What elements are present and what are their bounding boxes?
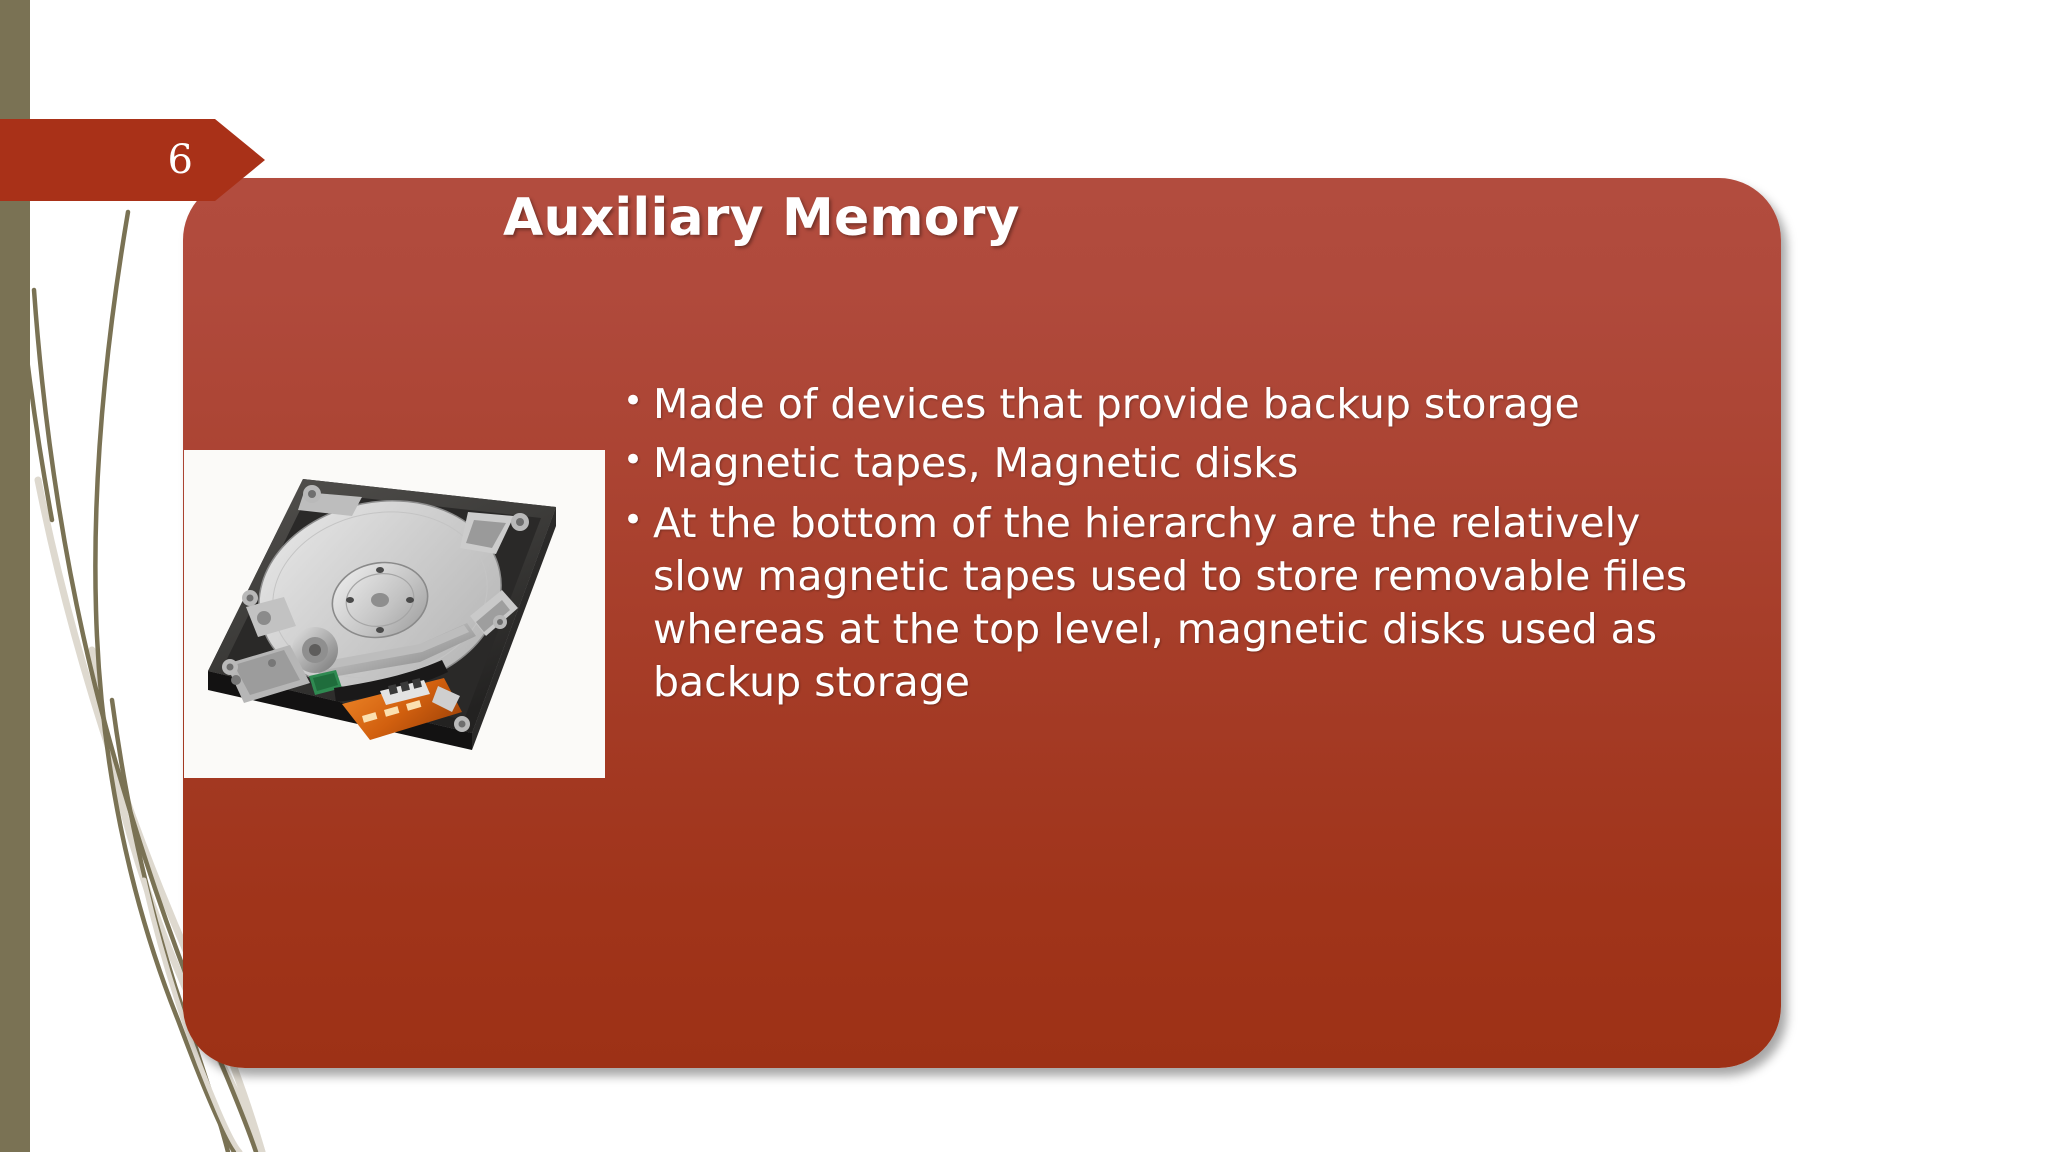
- bullet-text: At the bottom of the hierarchy are the r…: [653, 497, 1743, 710]
- bullet-text: Magnetic tapes, Magnetic disks: [653, 437, 1743, 490]
- bullet-marker-icon: •: [623, 497, 653, 543]
- hard-disk-drive-image: [184, 450, 605, 778]
- slide-number: 6: [0, 119, 215, 201]
- slide-number-badge: 6: [0, 119, 265, 201]
- list-item: • Made of devices that provide backup st…: [623, 378, 1743, 431]
- content-panel: Auxiliary Memory: [183, 178, 1781, 1068]
- bullet-marker-icon: •: [623, 437, 653, 483]
- list-item: • At the bottom of the hierarchy are the…: [623, 497, 1743, 710]
- bullet-marker-icon: •: [623, 378, 653, 424]
- bullet-text: Made of devices that provide backup stor…: [653, 378, 1743, 431]
- list-item: • Magnetic tapes, Magnetic disks: [623, 437, 1743, 490]
- bullet-list: • Made of devices that provide backup st…: [623, 378, 1743, 716]
- page-title: Auxiliary Memory: [503, 188, 1743, 248]
- slide-canvas: Auxiliary Memory: [0, 0, 2048, 1152]
